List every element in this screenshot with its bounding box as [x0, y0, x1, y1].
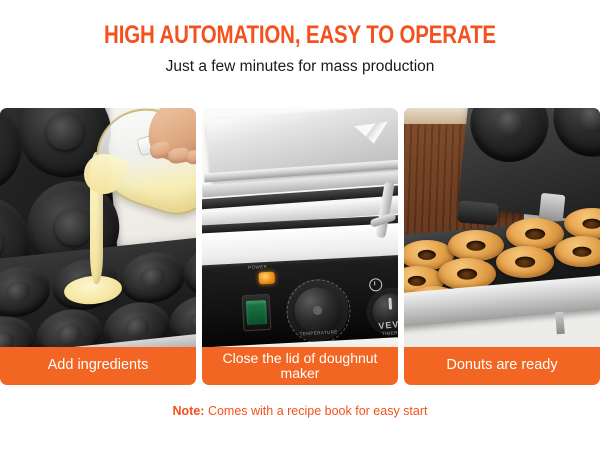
panel-donuts-ready[interactable]: Donuts are ready: [404, 108, 600, 385]
page-subtitle: Just a few minutes for mass production: [0, 59, 600, 75]
panel-caption: Add ingredients: [0, 347, 196, 385]
panel-close-lid[interactable]: POWER TEMPERATURE TIMER VEVOR Close the …: [202, 108, 398, 385]
clock-icon: [369, 278, 383, 292]
donut: [496, 246, 554, 278]
panel-row: Add ingredients POWER TEMPERATURE: [0, 108, 600, 385]
donut: [448, 230, 504, 261]
timer-label: TIMER: [382, 330, 398, 336]
panel-caption: Close the lid of doughnut maker: [202, 347, 398, 385]
lid-emblem-icon: [354, 121, 390, 146]
panel-caption: Donuts are ready: [404, 347, 600, 385]
footer-note: Note: Comes with a recipe book for easy …: [0, 405, 600, 418]
power-indicator-light-icon: [258, 272, 275, 285]
note-prefix: Note:: [173, 404, 205, 418]
photo-donuts-ready: [404, 108, 600, 347]
power-label: POWER: [248, 264, 267, 270]
power-switch[interactable]: [242, 294, 272, 331]
panel-add-ingredients[interactable]: Add ingredients: [0, 108, 196, 385]
lid-hinge-icon: [457, 200, 499, 225]
photo-add-ingredients: [0, 108, 196, 347]
machine-leg-icon: [555, 312, 565, 335]
header: HIGH AUTOMATION, EASY TO OPERATE Just a …: [0, 0, 600, 75]
photo-close-lid: POWER TEMPERATURE TIMER VEVOR: [202, 108, 398, 347]
control-panel[interactable]: POWER TEMPERATURE TIMER VEVOR: [202, 254, 398, 347]
note-text: Comes with a recipe book for easy start: [208, 404, 428, 418]
page-title: HIGH AUTOMATION, EASY TO OPERATE: [54, 23, 546, 48]
